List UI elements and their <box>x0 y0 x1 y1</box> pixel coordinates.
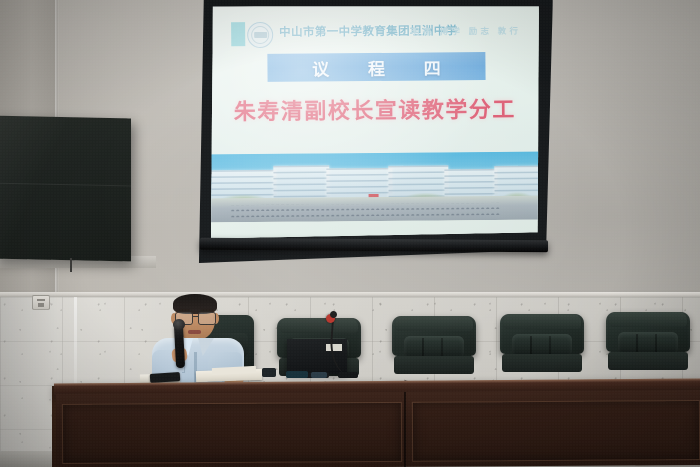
agenda-banner: 议 程 四 <box>267 52 485 82</box>
presentation-slide: 中山市第一中学教育集团坦洲中学 明德 博学 励志 敦行 议 程 四 朱寿清副校长… <box>209 4 541 239</box>
slide-headline: 朱寿清副校长宣读教学分工 <box>210 92 540 127</box>
desk-panel <box>412 400 700 462</box>
table-row <box>392 316 476 374</box>
chair-cushion <box>512 334 572 356</box>
wall-display-panel <box>0 116 131 262</box>
wall-corner-recess <box>0 297 58 467</box>
campus-building <box>445 169 498 198</box>
building-windows <box>273 165 329 199</box>
emblem-core <box>254 32 267 38</box>
chair-cushion <box>404 336 464 358</box>
glasses-bridge <box>192 316 198 317</box>
chair-seat <box>394 356 475 374</box>
eyebrow-right <box>201 309 214 311</box>
screen-bottom-bar <box>200 238 548 252</box>
panel-cable <box>70 258 72 272</box>
eyebrow-left <box>177 309 190 311</box>
projection-screen: 中山市第一中学教育集团坦洲中学 明德 博学 励志 敦行 议 程 四 朱寿清副校长… <box>195 0 555 264</box>
microphone-head <box>173 319 185 330</box>
chair-cushion <box>618 332 678 354</box>
table-row <box>500 314 584 372</box>
microphone-capsule <box>330 311 337 318</box>
school-emblem-icon <box>247 22 273 48</box>
chair-headrest <box>609 312 688 327</box>
socket-slot <box>37 299 45 301</box>
building-windows <box>326 168 392 200</box>
glasses-lens-right <box>198 312 216 325</box>
slide-header: 中山市第一中学教育集团坦洲中学 明德 博学 励志 敦行 <box>209 14 539 47</box>
agenda-banner-text: 议 程 四 <box>295 54 458 80</box>
chair-headrest <box>395 316 474 331</box>
campus-building <box>326 168 392 200</box>
slide-school-motto: 明德 博学 励志 敦行 <box>411 25 521 38</box>
desk-panel-moulding <box>436 421 676 459</box>
socket-slot <box>38 303 44 307</box>
desk-section-seam <box>404 392 406 467</box>
panel-glare <box>0 116 131 262</box>
wall-power-socket <box>32 295 50 310</box>
hair <box>173 294 217 314</box>
desk-device <box>286 371 308 378</box>
mouth <box>188 330 201 334</box>
table-row <box>606 312 690 370</box>
campus-building <box>273 165 329 199</box>
accent-bar <box>231 22 245 46</box>
desk-panel <box>62 402 402 464</box>
podium-desk-front <box>56 390 700 467</box>
desk-device <box>262 368 276 377</box>
desk-panel-moulding <box>90 423 374 462</box>
campus-panorama-photo <box>210 152 541 223</box>
chair-seat <box>502 354 583 372</box>
chair-seat <box>608 352 689 370</box>
screen-surface: 中山市第一中学教育集团坦洲中学 明德 博学 励志 敦行 议 程 四 朱寿清副校长… <box>209 4 541 239</box>
chair-headrest <box>503 314 582 329</box>
conference-room-photo: 中山市第一中学教育集团坦洲中学 明德 博学 励志 敦行 议 程 四 朱寿清副校长… <box>0 0 700 467</box>
desk-device <box>311 372 327 378</box>
building-windows <box>445 169 498 198</box>
campus-assembly-crowd <box>230 203 501 218</box>
